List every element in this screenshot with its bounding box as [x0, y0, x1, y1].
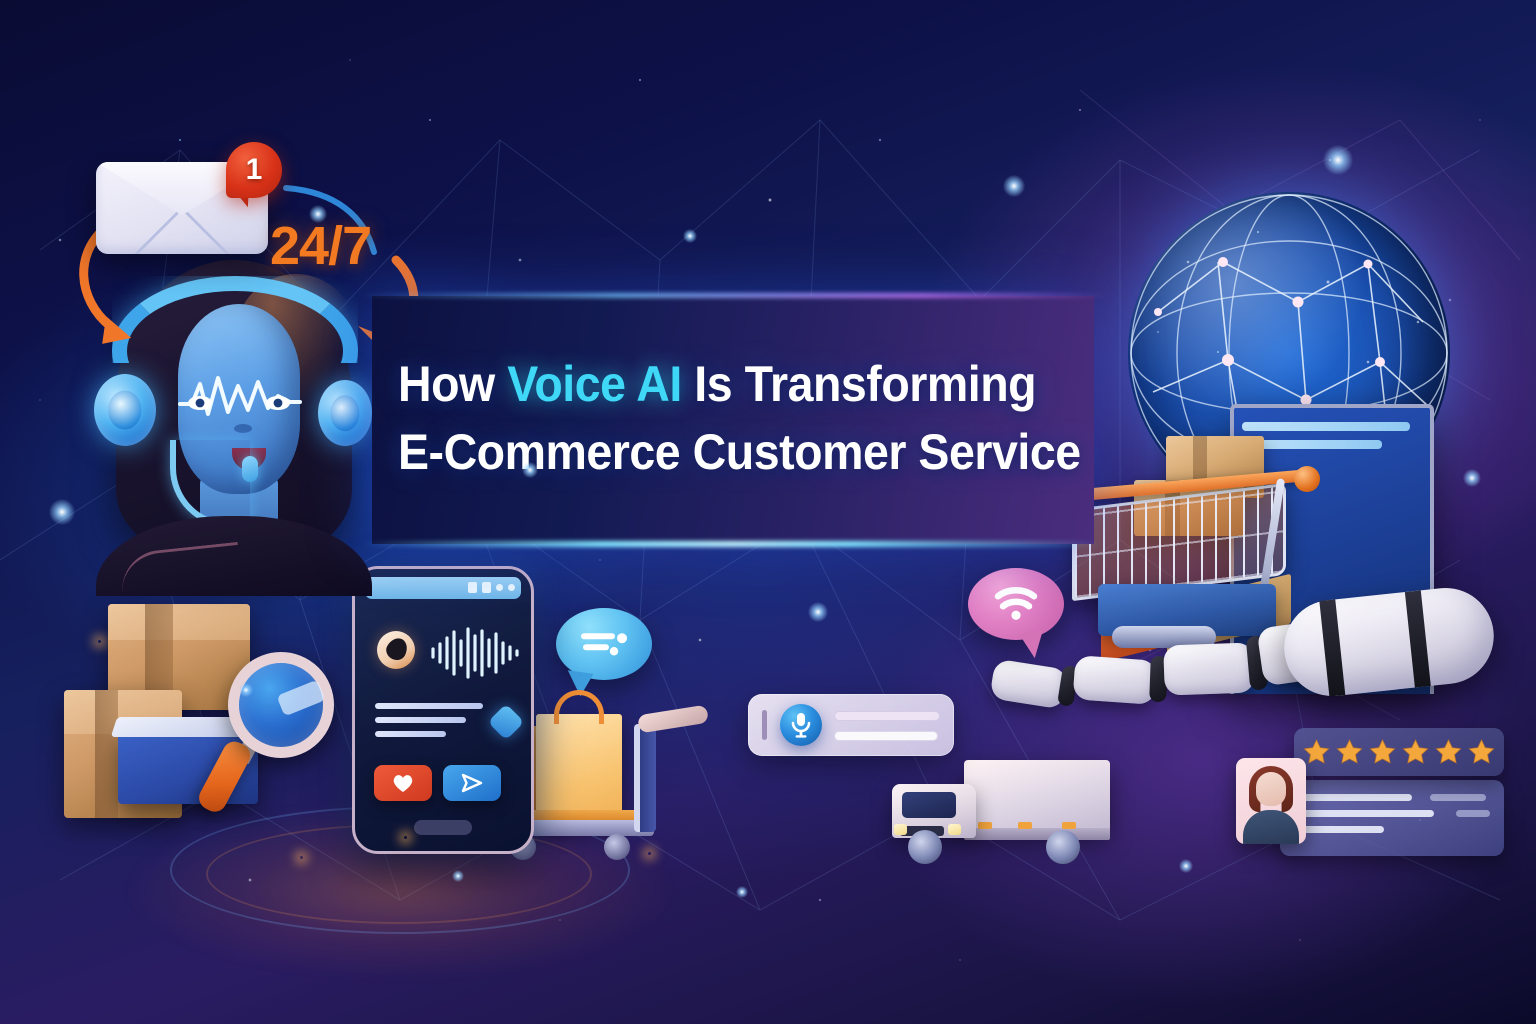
- parcel-tape: [95, 690, 119, 818]
- title-accent-voice-ai: Voice AI: [507, 356, 682, 412]
- shopping-bag: [536, 714, 622, 824]
- robot-forearm: [1280, 583, 1499, 700]
- heart-button[interactable]: [374, 765, 432, 801]
- availability-label: 24/7: [270, 215, 371, 277]
- phone-accent-shape: [488, 704, 525, 741]
- trolley-wheel: [604, 834, 630, 860]
- glow-dot: [1463, 469, 1481, 487]
- avatar-body: [1243, 810, 1299, 844]
- hero-banner-canvas: 1 24/7 How Voice AI Is Transforming E-Co…: [0, 0, 1536, 1024]
- title-banner: How Voice AI Is Transforming E-Commerce …: [372, 296, 1094, 544]
- truck-marker-light: [1062, 822, 1076, 829]
- star-rating: [1294, 728, 1504, 776]
- truck-marker-light: [978, 822, 992, 829]
- glow-dot: [808, 602, 828, 622]
- truck-marker-light: [1018, 822, 1032, 829]
- magnifier-glint: [276, 680, 325, 717]
- headset-earcup: [94, 374, 156, 446]
- text-caret: [762, 710, 767, 740]
- truck-headlight: [948, 824, 961, 835]
- review-text-line: [1296, 794, 1412, 801]
- phone-content-lines: [375, 703, 483, 745]
- glow-dot: [49, 499, 75, 525]
- title-suffix: Is Transforming: [682, 356, 1036, 412]
- speech-bubble-blue: [556, 608, 652, 680]
- glow-dot: [1003, 175, 1025, 197]
- robot-joint-band: [1319, 599, 1345, 696]
- star-icon: [1368, 738, 1397, 766]
- headset-earcup: [318, 380, 372, 446]
- smartphone-mockup: [352, 566, 534, 854]
- notification-badge: 1: [226, 142, 282, 198]
- robot-finger: [1163, 642, 1255, 695]
- signal-waves-icon: [992, 584, 1040, 622]
- send-icon: [460, 772, 484, 794]
- review-text-line: [1430, 794, 1486, 801]
- robot-finger: [989, 658, 1068, 709]
- avatar-head: [1256, 772, 1286, 806]
- review-text-line: [1456, 810, 1490, 817]
- cart-handle-knob: [1294, 466, 1320, 492]
- parcel-box-lid: [108, 604, 250, 640]
- search-field-line: [834, 731, 938, 741]
- agent-nose: [234, 424, 252, 433]
- glow-dot: [1323, 145, 1353, 175]
- phone-home-indicator: [414, 820, 472, 835]
- truck-windshield: [902, 792, 956, 818]
- star-icon: [1302, 738, 1331, 766]
- lens-flare: [300, 856, 303, 859]
- microphone-button[interactable]: [780, 704, 822, 746]
- truck-cab: [892, 784, 976, 838]
- customer-review-card: [1236, 728, 1504, 856]
- star-icon: [1335, 738, 1364, 766]
- speech-bubble-pink: [968, 568, 1064, 640]
- phone-status-icons: [468, 582, 515, 593]
- voice-search-bar[interactable]: [748, 694, 954, 756]
- glow-dot: [452, 870, 464, 882]
- phone-call-icon: [377, 631, 415, 669]
- review-text-line: [1296, 826, 1384, 833]
- cart-mesh: [1075, 486, 1283, 598]
- title-prefix: How: [398, 356, 507, 412]
- star-icon: [1401, 738, 1430, 766]
- heart-icon: [392, 773, 414, 793]
- laptop-ui-bar: [1242, 422, 1410, 431]
- send-button[interactable]: [443, 765, 501, 801]
- truck-headlight: [894, 824, 907, 835]
- headset-earcup-inner: [108, 391, 141, 430]
- customer-avatar-icon: [1236, 758, 1306, 844]
- truck-skirt: [964, 828, 1110, 840]
- delivery-truck-icon: [886, 752, 1116, 870]
- headset-mic-tip: [242, 456, 258, 482]
- magnifier-lens: [228, 652, 334, 758]
- trolley-post: [634, 724, 656, 832]
- page-title-line-2: E-Commerce Customer Service: [398, 426, 1021, 478]
- signal-waves-icon: [578, 624, 630, 662]
- page-title-line-1: How Voice AI Is Transforming: [398, 358, 1021, 410]
- headset-earcup-inner: [330, 395, 359, 431]
- truck-wheel: [1046, 830, 1080, 864]
- trolley-grip: [637, 705, 709, 734]
- star-icon: [1467, 738, 1496, 766]
- glow-dot: [683, 229, 697, 243]
- voice-waveform-icon: [429, 627, 521, 679]
- glow-dot: [736, 886, 748, 898]
- search-field-line: [834, 711, 940, 721]
- package-tracking-group: [46, 604, 346, 850]
- truck-wheel: [908, 830, 942, 864]
- review-text-line: [1296, 810, 1434, 817]
- review-text-body: [1280, 780, 1504, 856]
- star-icon: [1434, 738, 1463, 766]
- robot-finger: [1073, 655, 1158, 705]
- bubble-tail: [1020, 630, 1049, 660]
- microphone-icon: [790, 712, 812, 738]
- robot-joint-band: [1405, 590, 1431, 687]
- glow-dot: [1179, 859, 1193, 873]
- magnifying-glass-icon: [218, 652, 338, 812]
- bag-handle: [554, 690, 604, 724]
